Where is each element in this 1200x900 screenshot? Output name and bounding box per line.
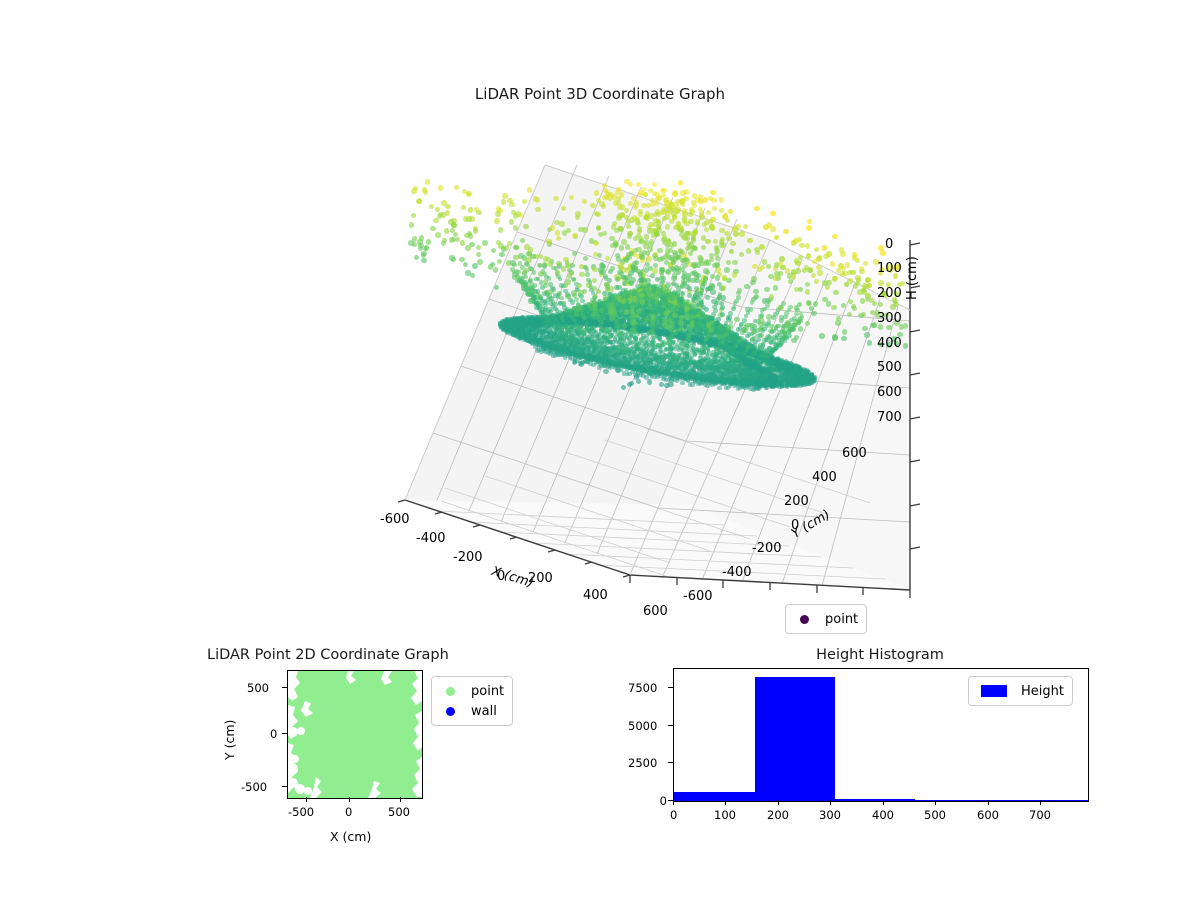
plot3d-title: LiDAR Point 3D Coordinate Graph	[475, 85, 725, 103]
lidar-3d-axes	[270, 110, 950, 630]
scatter-point	[628, 336, 632, 340]
matplotlib-figure: LiDAR Point 3D Coordinate Graph	[0, 0, 1200, 900]
plot3d-scatter-layer	[270, 110, 950, 630]
scatter-point	[679, 342, 683, 346]
